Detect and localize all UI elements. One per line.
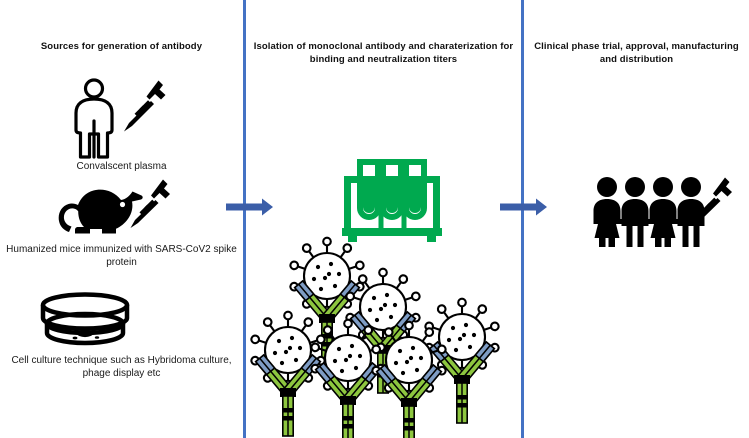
caption-cell-culture: Cell culture technique such as Hybridoma… [2, 354, 241, 380]
virus-antibody-complex [250, 312, 325, 436]
panel-sources-title: Sources for generation of antibody [10, 40, 233, 53]
pipette-icon [691, 176, 735, 230]
person-female-icon [594, 177, 621, 247]
workflow-figure: Sources for generation of antibody Conva… [0, 0, 749, 438]
caption-convalescent-plasma: Convalscent plasma [6, 160, 237, 173]
person-male-icon [622, 177, 649, 247]
panel-isolation: Isolation of monoclonal antibody and cha… [246, 0, 521, 438]
panel-sources: Sources for generation of antibody Conva… [0, 0, 243, 438]
pipette-icon [131, 180, 171, 229]
petri-dish-icon [35, 292, 135, 348]
virus-antibody-complex [424, 299, 499, 423]
person-with-pipette-icon [62, 78, 172, 160]
pipette-icon [124, 81, 166, 132]
panel-clinical-title: Clinical phase trial, approval, manufact… [530, 40, 743, 66]
person-female-icon [650, 177, 677, 247]
caption-humanized-mice: Humanized mice immunized with SARS-CoV2 … [2, 243, 241, 269]
mouse-figure-icon [59, 190, 143, 234]
mouse-with-pipette-icon [44, 178, 174, 240]
person-figure-icon [76, 80, 112, 157]
virus-antibody-complex-group [246, 232, 521, 432]
panel-clinical: Clinical phase trial, approval, manufact… [524, 0, 749, 438]
panel-isolation-title: Isolation of monoclonal antibody and cha… [252, 40, 515, 66]
